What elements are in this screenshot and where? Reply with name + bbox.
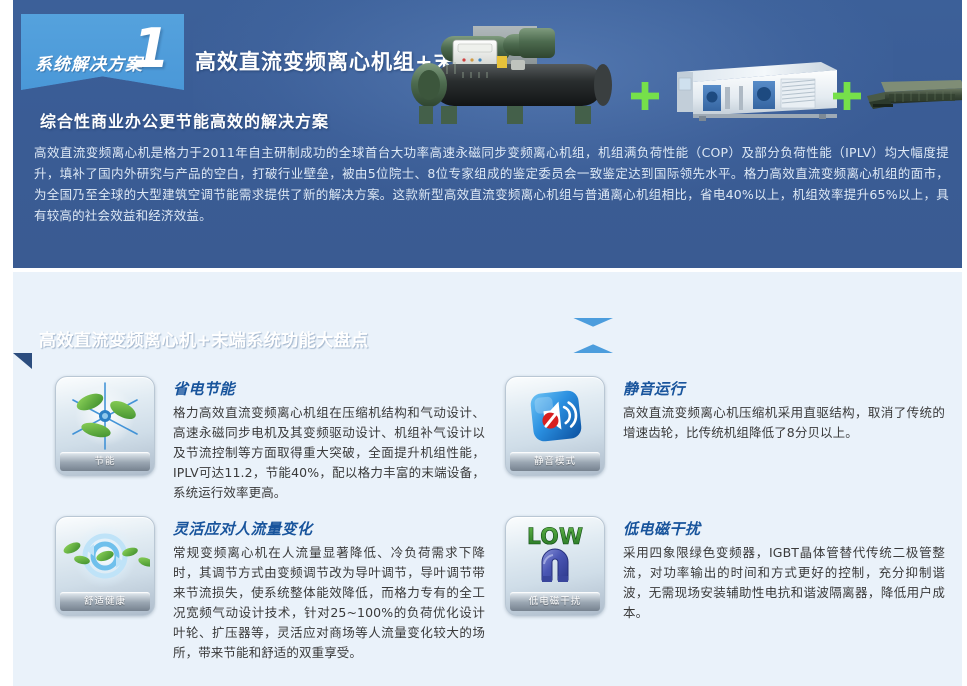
feature-text: 低电磁干扰 采用四象限绿色变频器，IGBT晶体管替代传统二极管整流，对功率输出的… [623, 516, 945, 623]
plus-icon [833, 82, 861, 110]
hero-panel: 系统解决方案 1 高效直流变频离心机组+末端 综合性商业办公更节能高效的解决方案… [13, 0, 962, 268]
hero-subtitle: 综合性商业办公更节能高效的解决方案 [40, 108, 329, 132]
feature-description: 格力高效直流变频离心机组在压缩机结构和气动设计、高速永磁同步电机及其变频驱动设计… [173, 403, 485, 503]
solution-number-ribbon: 系统解决方案 1 [21, 14, 184, 90]
section-ribbon-fold [13, 353, 32, 369]
comfort-airflow-cycle-icon: 舒适健康 [55, 516, 155, 616]
icon-caption: 静音模式 [510, 452, 600, 471]
energy-saving-fan-leaf-art [60, 380, 150, 453]
feature-text: 灵活应对人流量变化 常规变频离心机在人流量显著降低、冷负荷需求下降时，其调节方式… [173, 516, 485, 663]
feature-item: 静音模式 静音运行 高效直流变频离心机压缩机采用直驱结构，取消了传统的增速齿轮，… [505, 376, 945, 476]
svg-text:LOW: LOW [527, 525, 583, 550]
mute-speaker-icon: 静音模式 [505, 376, 605, 476]
solution-ribbon-number: 1 [132, 22, 170, 76]
feature-description: 高效直流变频离心机压缩机采用直驱结构，取消了传统的增速齿轮，比传统机组降低了8分… [623, 403, 945, 443]
air-handling-unit-photo [669, 54, 839, 122]
feature-text: 省电节能 格力高效直流变频离心机组在压缩机结构和气动设计、高速永磁同步电机及其变… [173, 376, 485, 503]
fan-coil-unit-photo [865, 76, 962, 112]
feature-description: 采用四象限绿色变频器，IGBT晶体管替代传统二极管整流，对功率输出的时间和方式更… [623, 543, 945, 623]
mute-speaker-art [510, 380, 600, 453]
feature-title: 省电节能 [173, 378, 485, 399]
feature-item: LOW 低电磁干扰 低电磁干扰 采用四象限绿色变频器，IGBT晶体管替代传统二极… [505, 516, 945, 623]
feature-item: 节能 省电节能 格力高效直流变频离心机组在压缩机结构和气动设计、高速永磁同步电机… [55, 376, 485, 503]
low-magnet-icon: LOW 低电磁干扰 [505, 516, 605, 616]
features-panel: 高效直流变频离心机+末端系统功能大盘点 [13, 272, 962, 686]
energy-saving-fan-leaf-icon: 节能 [55, 376, 155, 476]
centrifugal-chiller-photo [411, 18, 626, 130]
feature-title: 静音运行 [623, 378, 945, 399]
icon-caption: 节能 [60, 452, 150, 471]
feature-text: 静音运行 高效直流变频离心机压缩机采用直驱结构，取消了传统的增速齿轮，比传统机组… [623, 376, 945, 443]
feature-item: 舒适健康 灵活应对人流量变化 常规变频离心机在人流量显著降低、冷负荷需求下降时，… [55, 516, 485, 663]
plus-icon [631, 82, 659, 110]
solution-ribbon-label: 系统解决方案 [35, 50, 143, 75]
low-magnet-art: LOW [510, 520, 600, 593]
hero-description: 高效直流变频离心机是格力于2011年自主研制成功的全球首台大功率高速永磁同步变频… [34, 142, 949, 226]
feature-description: 常规变频离心机在人流量显著降低、冷负荷需求下降时，其调节方式由变频调节改为导叶调… [173, 543, 485, 663]
feature-title: 灵活应对人流量变化 [173, 518, 485, 539]
icon-caption: 舒适健康 [60, 592, 150, 611]
section-title: 高效直流变频离心机+末端系统功能大盘点 [39, 326, 369, 351]
comfort-airflow-cycle-art [60, 520, 150, 593]
feature-title: 低电磁干扰 [623, 518, 945, 539]
icon-caption: 低电磁干扰 [510, 592, 600, 611]
